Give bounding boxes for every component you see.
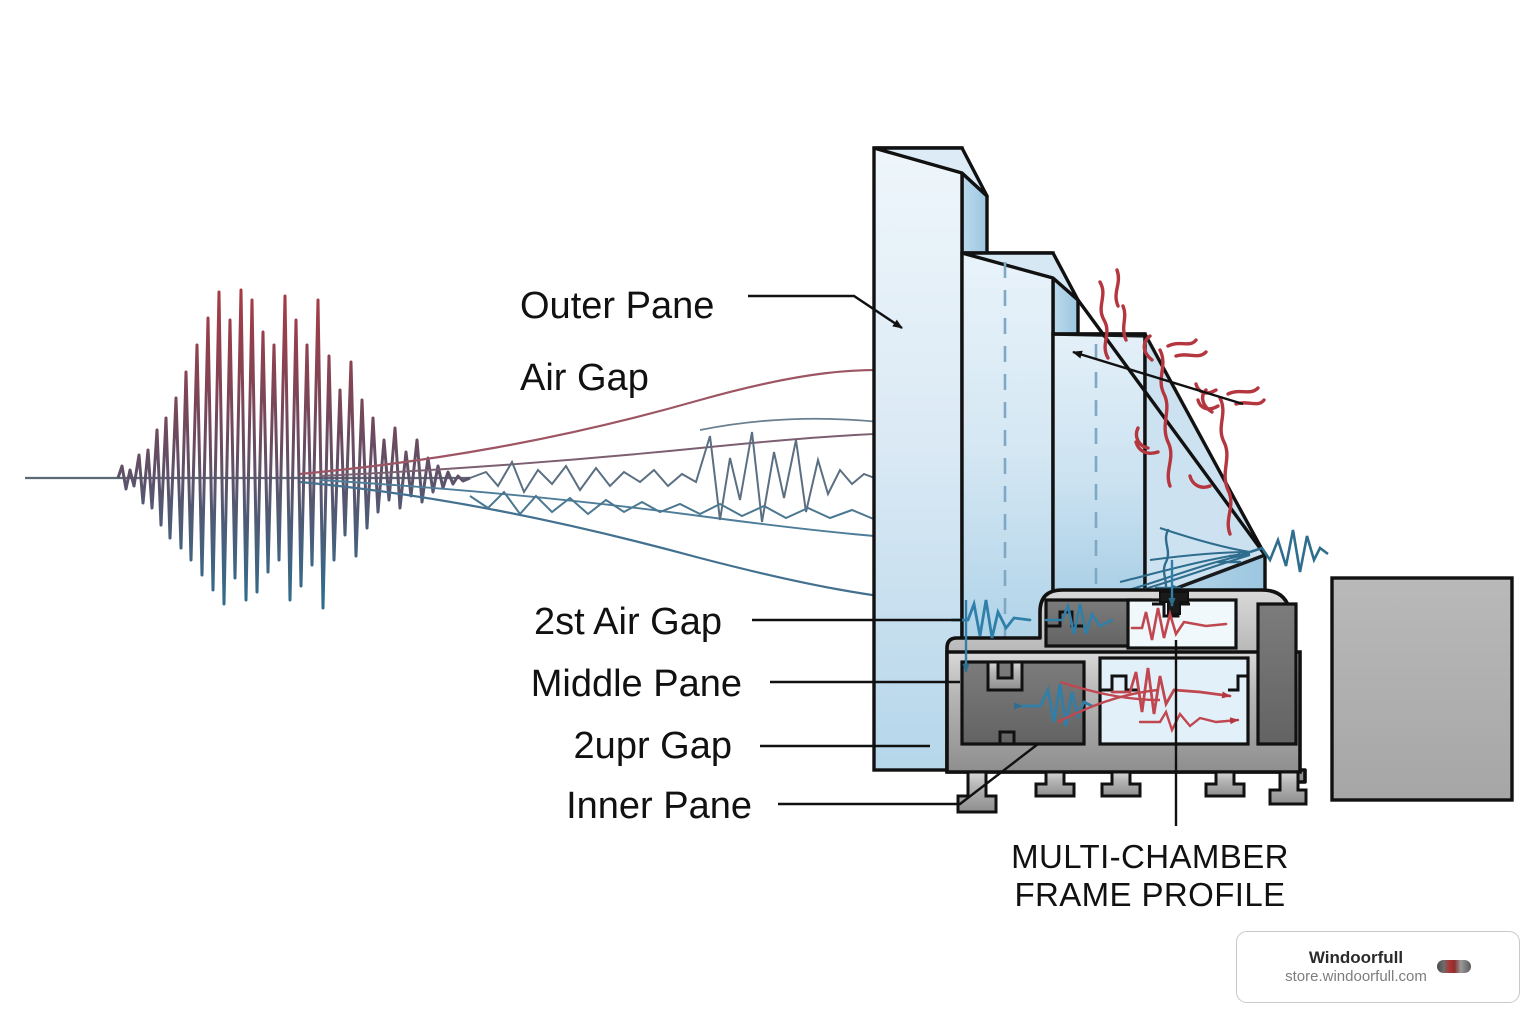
acoustic-window-diagram: Outer Pane Air Gap 2st Air Gap Middle Pa… — [0, 0, 1536, 1024]
label-air-gap: Air Gap — [520, 357, 649, 399]
watermark-url: store.windoorfull.com — [1285, 968, 1427, 986]
frame-bottom-slots — [958, 772, 1306, 812]
frame-chamber-center — [1100, 658, 1248, 744]
middle-pane-face — [962, 253, 1053, 650]
caption-frame-line2: FRAME PROFILE — [1014, 876, 1285, 913]
watermark-card: Windoorfull store.windoorfull.com — [1236, 931, 1520, 1003]
frame-chamber-right — [1258, 604, 1296, 744]
diagram-canvas: Outer Pane Air Gap 2st Air Gap Middle Pa… — [0, 0, 1536, 1024]
watermark-brand: Windoorfull — [1309, 948, 1403, 968]
label-second-upper-gap: 2upr Gap — [574, 725, 732, 767]
label-inner-pane: Inner Pane — [566, 785, 752, 827]
caption-frame-line1: MULTI-CHAMBER — [1011, 838, 1289, 875]
label-second-air-gap: 2st Air Gap — [534, 601, 722, 643]
label-middle-pane: Middle Pane — [531, 663, 742, 705]
waveform-burst — [118, 290, 470, 608]
wall-block — [1332, 578, 1512, 800]
pill-logo-icon — [1437, 960, 1471, 973]
incoming-sound-wave — [25, 290, 470, 608]
label-outer-pane: Outer Pane — [520, 285, 714, 327]
